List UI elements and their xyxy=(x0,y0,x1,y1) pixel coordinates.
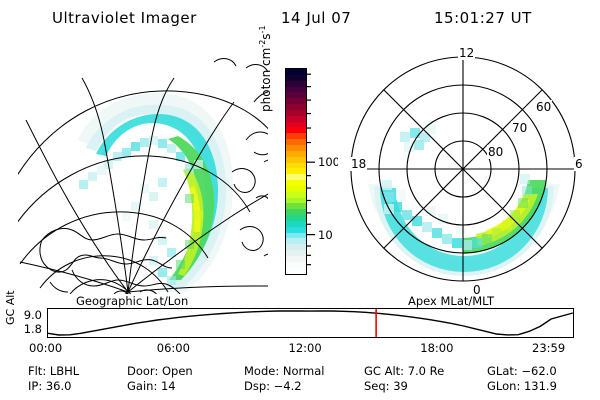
colorbar-tick-label: 100 xyxy=(318,155,340,169)
geographic-map xyxy=(18,44,268,294)
status-field: GLat: −62.0 xyxy=(487,364,557,378)
status-field: Mode: Normal xyxy=(244,364,324,378)
orbit-xtick-label: 06:00 xyxy=(157,341,190,355)
colorbar-band xyxy=(286,268,306,274)
colorbar-axis-label: photon cm-2s-1 xyxy=(258,25,273,112)
mlt-spokes xyxy=(351,57,575,281)
status-field: Dsp: −4.2 xyxy=(244,379,302,393)
altitude-trace xyxy=(48,311,573,335)
uvi-summary-plot: Ultraviolet Imager 14 Jul 07 15:01:27 UT xyxy=(0,0,600,400)
orbit-xtick-label: 12:00 xyxy=(289,341,322,355)
status-field: IP: 36.0 xyxy=(28,379,71,393)
colorbar-tick-label: 10 xyxy=(318,228,333,242)
header: Ultraviolet Imager 14 Jul 07 15:01:27 UT xyxy=(0,6,600,32)
colorbar-ticks xyxy=(307,67,317,277)
instrument-title: Ultraviolet Imager xyxy=(52,9,197,27)
mlat-ring-label: 60 xyxy=(535,100,552,114)
observation-date: 14 Jul 07 xyxy=(281,9,351,27)
status-field: Seq: 39 xyxy=(364,379,408,393)
orbit-xtick-label: 23:59 xyxy=(532,341,565,355)
observation-time: 15:01:27 UT xyxy=(434,9,532,27)
mlat-ring-label: 80 xyxy=(487,145,504,159)
geographic-panel-caption: Geographic Lat/Lon xyxy=(76,294,188,308)
status-field: Door: Open xyxy=(127,364,193,378)
geographic-image-panel[interactable]: Geographic Lat/Lon xyxy=(18,44,268,294)
orbit-ytick-label: 1.8 xyxy=(24,322,42,336)
orbit-xtick-label: 00:00 xyxy=(29,341,62,355)
orbit-altitude-plot[interactable] xyxy=(47,308,574,338)
orbit-ytick-labels: 9.01.8 xyxy=(0,308,45,340)
mlt-panel-caption: Apex MLat/MLT xyxy=(408,294,494,308)
status-footer: Flt: LBHLDoor: OpenMode: NormalGC Alt: 7… xyxy=(0,364,600,398)
status-field: GC Alt: 7.0 Re xyxy=(364,364,444,378)
status-field: Flt: LBHL xyxy=(28,364,79,378)
orbit-xtick-label: 18:00 xyxy=(420,341,453,355)
apex-mlat-mlt-dial xyxy=(338,44,588,294)
mlt-hour-label: 12 xyxy=(458,46,475,60)
mlt-hour-label: 18 xyxy=(350,157,367,171)
mlt-hour-label: 6 xyxy=(574,157,584,171)
mlat-ring-label: 70 xyxy=(511,121,528,135)
orbit-ytick-label: 9.0 xyxy=(24,308,42,322)
colorbar[interactable] xyxy=(285,68,307,275)
mlt-dial-panel[interactable]: 121860 607080 Apex MLat/MLT xyxy=(338,44,588,294)
status-field: GLon: 131.9 xyxy=(487,379,557,393)
orbit-altitude-curve xyxy=(48,309,573,337)
status-field: Gain: 14 xyxy=(127,379,176,393)
